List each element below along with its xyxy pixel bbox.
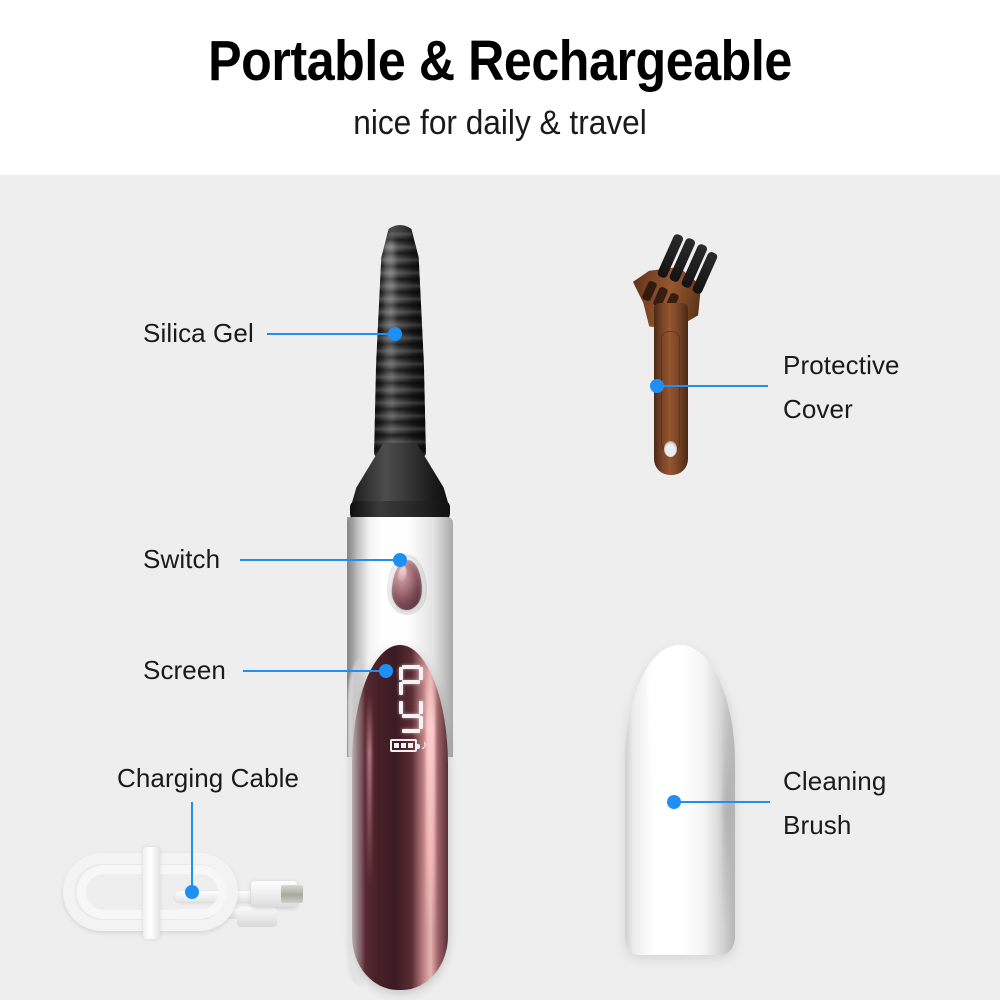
leader-line-screen bbox=[243, 670, 386, 672]
seg-c bbox=[419, 716, 423, 729]
display-symbol-icon: ♪ bbox=[421, 738, 428, 751]
brush-object bbox=[620, 245, 740, 475]
leader-dot-silica-gel bbox=[388, 327, 402, 341]
led-digit-top bbox=[396, 665, 426, 699]
handle-left-edge bbox=[348, 657, 364, 987]
callout-label-screen: Screen bbox=[143, 648, 226, 692]
callout-line: Cleaning bbox=[783, 759, 983, 803]
header-banner: Portable & Rechargeable nice for daily &… bbox=[0, 0, 1000, 175]
seg-g bbox=[402, 680, 420, 684]
brush-hang-hole bbox=[664, 441, 677, 457]
callout-label-cleaning-brush: Cleaning Brush bbox=[783, 759, 983, 847]
seg-b bbox=[419, 667, 423, 680]
seg-g bbox=[402, 714, 420, 718]
leader-line-charging-cable bbox=[191, 802, 193, 891]
page-subtitle: nice for daily & travel bbox=[35, 104, 965, 143]
led-screen: ♪ bbox=[388, 665, 434, 765]
seg-e bbox=[399, 682, 403, 695]
leader-dot-charging-cable bbox=[185, 885, 199, 899]
leader-line-protective-cover bbox=[660, 385, 768, 387]
callout-label-switch: Switch bbox=[143, 537, 220, 581]
seg-b bbox=[419, 701, 423, 714]
leader-dot-switch bbox=[393, 553, 407, 567]
device-eyelash-curler: ♪ bbox=[330, 225, 470, 995]
seg-f bbox=[399, 701, 403, 714]
led-digit-bottom bbox=[396, 699, 426, 733]
leader-line-switch bbox=[240, 559, 400, 561]
page-title: Portable & Rechargeable bbox=[60, 28, 940, 94]
seg-f bbox=[399, 667, 403, 680]
battery-icon bbox=[390, 739, 417, 752]
usb-cable-object bbox=[55, 835, 305, 950]
brush-handle-groove bbox=[661, 331, 680, 451]
leader-dot-screen bbox=[379, 664, 393, 678]
callout-label-charging-cable: Charging Cable bbox=[117, 756, 299, 800]
battery-bar bbox=[401, 743, 406, 748]
leader-line-silica-gel bbox=[267, 333, 395, 335]
cap-shadow-edge bbox=[722, 695, 732, 925]
infographic-page: Portable & Rechargeable nice for daily &… bbox=[0, 0, 1000, 1000]
cable-tie-strap bbox=[143, 847, 160, 939]
battery-bar bbox=[394, 743, 399, 748]
callout-line: Protective bbox=[783, 343, 983, 387]
usb-contact-plate bbox=[281, 885, 303, 903]
battery-bar bbox=[408, 743, 413, 748]
callout-label-silica-gel: Silica Gel bbox=[143, 311, 254, 355]
callout-line: Cover bbox=[783, 387, 983, 431]
tip-ribs bbox=[374, 231, 426, 457]
callout-label-protective-cover: Protective Cover bbox=[783, 343, 983, 431]
cap-highlight bbox=[648, 667, 664, 817]
leader-line-cleaning-brush bbox=[677, 801, 770, 803]
handle-left-gloss bbox=[367, 695, 372, 885]
usb-connector-secondary bbox=[237, 907, 277, 927]
battery-bars bbox=[394, 743, 413, 748]
product-stage: ♪ bbox=[0, 175, 1000, 1000]
seg-a bbox=[402, 665, 420, 669]
seg-d bbox=[402, 729, 420, 733]
callout-line: Brush bbox=[783, 803, 983, 847]
